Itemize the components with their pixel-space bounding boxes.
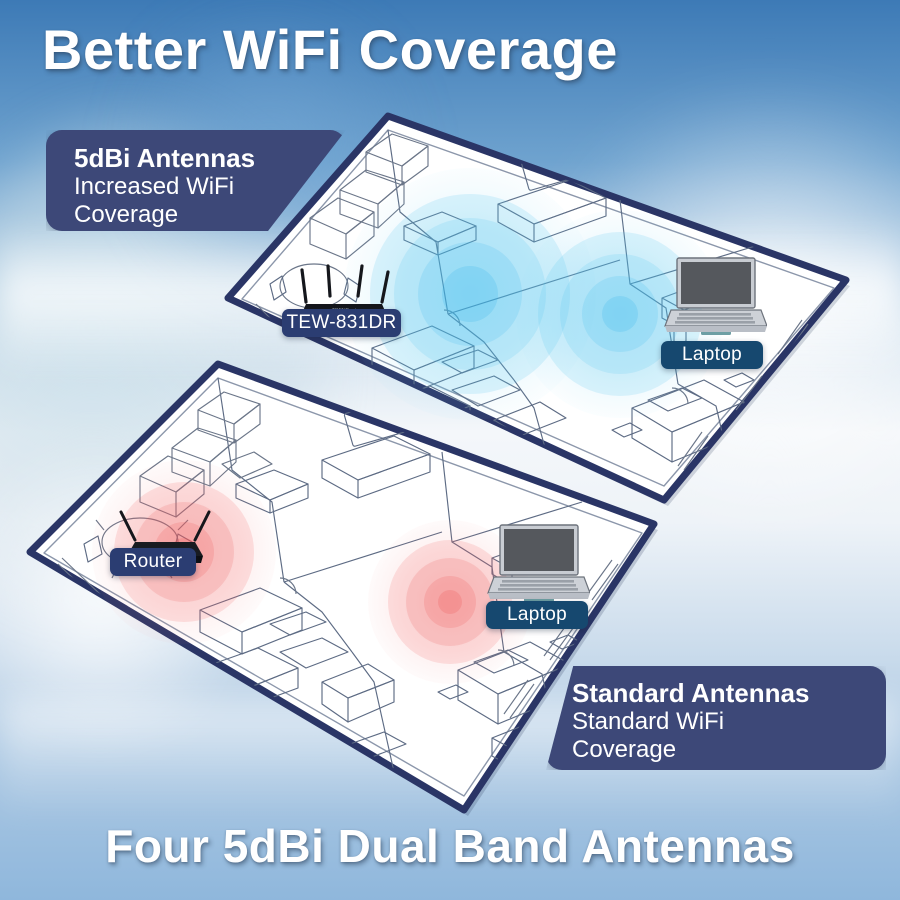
- callout-top-title: 5dBi Antennas: [74, 143, 346, 173]
- callout-bottom-subtitle-line2: Coverage: [572, 736, 886, 764]
- label-laptop-top: Laptop: [661, 341, 763, 369]
- label-laptop-bottom: Laptop: [486, 601, 588, 629]
- callout-standard-antennas: Standard Antennas Standard WiFi Coverage: [546, 666, 886, 770]
- label-router-tew-831dr: TEW-831DR: [282, 309, 401, 337]
- callout-bottom-subtitle-line1: Standard WiFi: [572, 708, 886, 736]
- label-router-standard: Router: [110, 548, 196, 576]
- laptop-device-bottom: [486, 523, 590, 609]
- page-subtitle: Four 5dBi Dual Band Antennas: [0, 818, 900, 874]
- laptop-device-top: [663, 256, 767, 342]
- marketing-graphic: Better WiFi Coverage: [0, 0, 900, 900]
- callout-bottom-title: Standard Antennas: [572, 678, 886, 708]
- page-title: Better WiFi Coverage: [0, 18, 900, 82]
